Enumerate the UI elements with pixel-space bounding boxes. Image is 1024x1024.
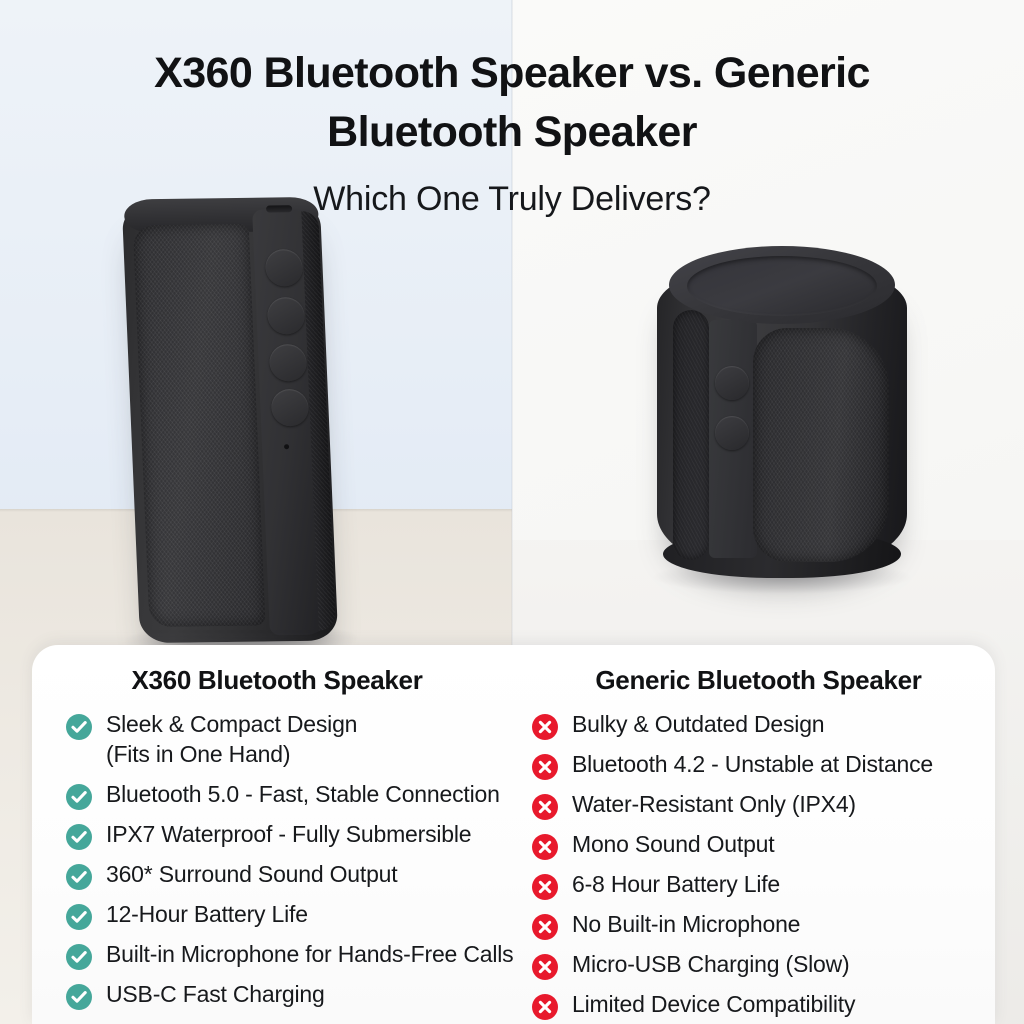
list-item-label: USB-C Fast Charging [106, 980, 325, 1010]
check-circle-icon [66, 984, 92, 1010]
x-circle-icon [532, 834, 558, 860]
left-speaker-microphone-hole [284, 444, 289, 449]
right-speaker-power-button [715, 366, 749, 400]
list-item: IPX7 Waterproof - Fully Submersible [32, 820, 522, 850]
list-item-label: Micro-USB Charging (Slow) [572, 950, 849, 980]
check-circle-icon [66, 944, 92, 970]
right-speaker-top-recess [687, 256, 877, 316]
list-item-label: 6-8 Hour Battery Life [572, 870, 780, 900]
left-speaker-grille [133, 224, 266, 627]
list-item-label: No Built-in Microphone [572, 910, 800, 940]
list-item-label: Water-Resistant Only (IPX4) [572, 790, 856, 820]
list-item-label: Mono Sound Output [572, 830, 774, 860]
list-item: Built-in Microphone for Hands-Free Calls [32, 940, 522, 970]
comparison-card: X360 Bluetooth Speaker Sleek & Compact D… [32, 645, 995, 1024]
list-item-label: Bluetooth 4.2 - Unstable at Distance [572, 750, 933, 780]
list-item: Bulky & Outdated Design [522, 710, 995, 740]
list-item-label: Built-in Microphone for Hands-Free Calls [106, 940, 513, 970]
title-line-2: Bluetooth Speaker [0, 103, 1024, 162]
list-item: Micro-USB Charging (Slow) [522, 950, 995, 980]
list-item: USB-C Fast Charging [32, 980, 522, 1010]
list-item-label: 360* Surround Sound Output [106, 860, 397, 890]
right-speaker-bluetooth-button [715, 416, 749, 450]
x-circle-icon [532, 914, 558, 940]
list-item-label: IPX7 Waterproof - Fully Submersible [106, 820, 471, 850]
list-item-label: Limited Device Compatibility [572, 990, 855, 1020]
generic-speaker-image [657, 244, 907, 584]
check-circle-icon [66, 864, 92, 890]
x360-speaker-image [122, 201, 338, 643]
check-circle-icon [66, 824, 92, 850]
list-item: 12-Hour Battery Life [32, 900, 522, 930]
list-item-label: Bulky & Outdated Design [572, 710, 824, 740]
list-item-label: Sleek & Compact Design (Fits in One Hand… [106, 710, 357, 770]
list-item: Bluetooth 4.2 - Unstable at Distance [522, 750, 995, 780]
x-circle-icon [532, 954, 558, 980]
title-line-1: X360 Bluetooth Speaker vs. Generic [154, 49, 870, 97]
x-circle-icon [532, 874, 558, 900]
list-item: No Built-in Microphone [522, 910, 995, 940]
right-speaker-side-grille [673, 310, 709, 560]
list-item: Sleek & Compact Design (Fits in One Hand… [32, 710, 522, 770]
page-title: X360 Bluetooth Speaker vs. Generic Bluet… [0, 44, 1024, 163]
x-circle-icon [532, 794, 558, 820]
x-circle-icon [532, 754, 558, 780]
list-item: Mono Sound Output [522, 830, 995, 860]
infographic-canvas: X360 Bluetooth Speaker vs. Generic Bluet… [0, 0, 1024, 1024]
list-item: Water-Resistant Only (IPX4) [522, 790, 995, 820]
generic-feature-list: Bulky & Outdated Design Bluetooth 4.2 - … [522, 710, 995, 1020]
x360-feature-list: Sleek & Compact Design (Fits in One Hand… [32, 710, 522, 1010]
list-item-label: Bluetooth 5.0 - Fast, Stable Connection [106, 780, 500, 810]
right-speaker-grille [753, 328, 889, 562]
column-title-generic: Generic Bluetooth Speaker [522, 665, 995, 696]
left-speaker-usb-port-icon [266, 205, 292, 212]
x-circle-icon [532, 714, 558, 740]
list-item-label: 12-Hour Battery Life [106, 900, 308, 930]
check-circle-icon [66, 714, 92, 740]
x-circle-icon [532, 994, 558, 1020]
list-item: Limited Device Compatibility [522, 990, 995, 1020]
list-item: 6-8 Hour Battery Life [522, 870, 995, 900]
check-circle-icon [66, 784, 92, 810]
list-item: 360* Surround Sound Output [32, 860, 522, 890]
column-title-x360: X360 Bluetooth Speaker [32, 665, 522, 696]
comparison-column-x360: X360 Bluetooth Speaker Sleek & Compact D… [32, 645, 522, 1024]
check-circle-icon [66, 904, 92, 930]
comparison-column-generic: Generic Bluetooth Speaker Bulky & Outdat… [522, 645, 995, 1024]
list-item: Bluetooth 5.0 - Fast, Stable Connection [32, 780, 522, 810]
